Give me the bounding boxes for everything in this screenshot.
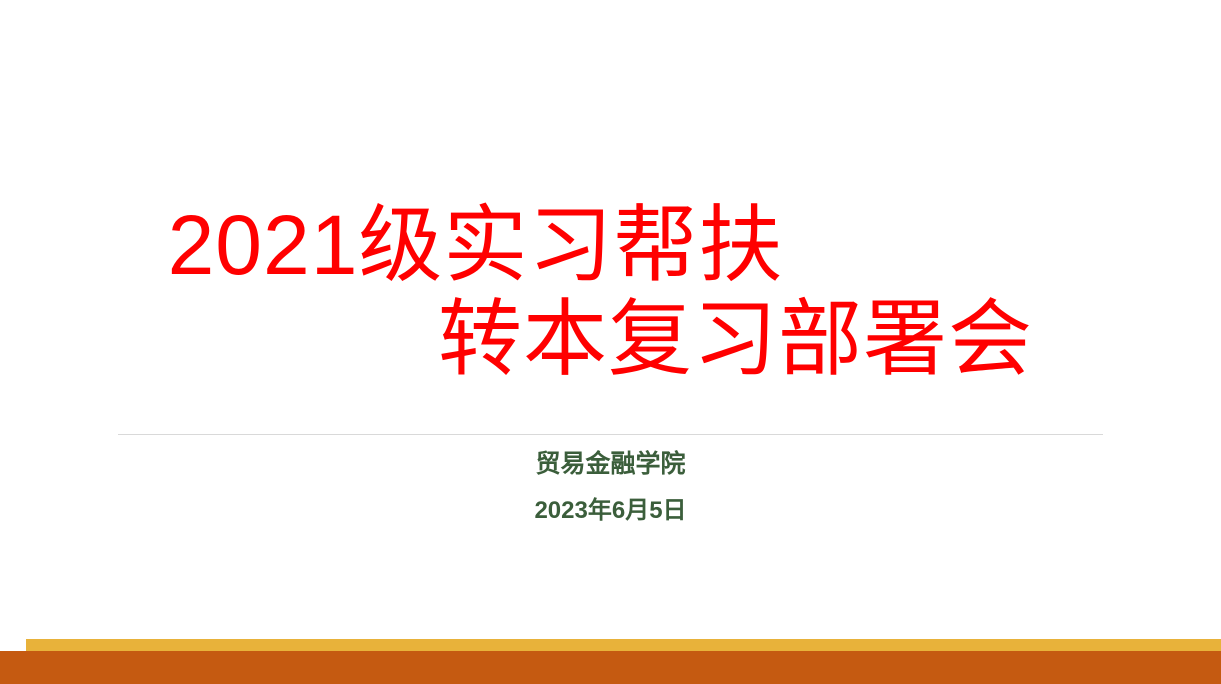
subtitle-organization: 贸易金融学院 [0,448,1221,481]
slide-subtitle-block: 贸易金融学院 2023年6月5日 [0,448,1221,527]
presentation-slide: 2021级实习帮扶 转本复习部署会 贸易金融学院 2023年6月5日 [0,0,1221,684]
footer-band-yellow [0,639,1221,651]
title-divider [118,434,1103,435]
footer-accent-bar [0,639,1221,684]
subtitle-date: 2023年6月5日 [0,481,1221,527]
slide-title: 2021级实习帮扶 转本复习部署会 [0,198,1221,386]
footer-band-notch [0,639,26,651]
title-line-1: 2021级实习帮扶 [0,198,1221,292]
title-line-2: 转本复习部署会 [0,292,1221,386]
